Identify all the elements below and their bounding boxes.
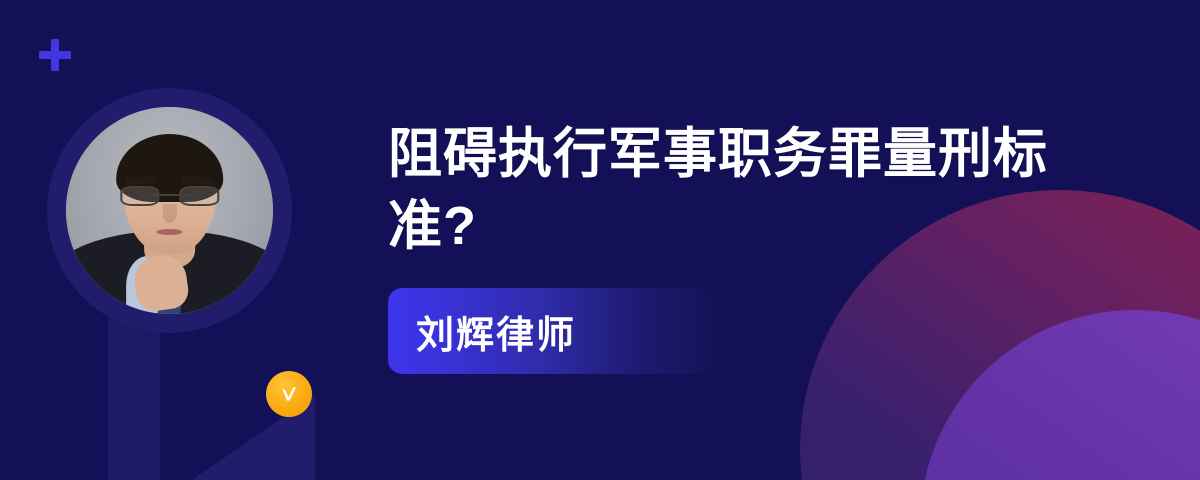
lawyer-name-label: 刘辉律师 xyxy=(416,304,576,359)
avatar-photo xyxy=(66,107,273,314)
page-title: 阻碍执行军事职务罪量刑标准? xyxy=(388,118,1068,262)
banner-content: 阻碍执行军事职务罪量刑标准? 刘辉律师 xyxy=(388,118,1088,374)
avatar[interactable] xyxy=(47,88,292,333)
lawyer-name-button[interactable]: 刘辉律师 xyxy=(388,288,714,374)
verified-v-icon xyxy=(266,371,312,417)
lawyer-question-banner: 阻碍执行军事职务罪量刑标准? 刘辉律师 xyxy=(0,0,1200,480)
plus-icon xyxy=(38,38,72,72)
